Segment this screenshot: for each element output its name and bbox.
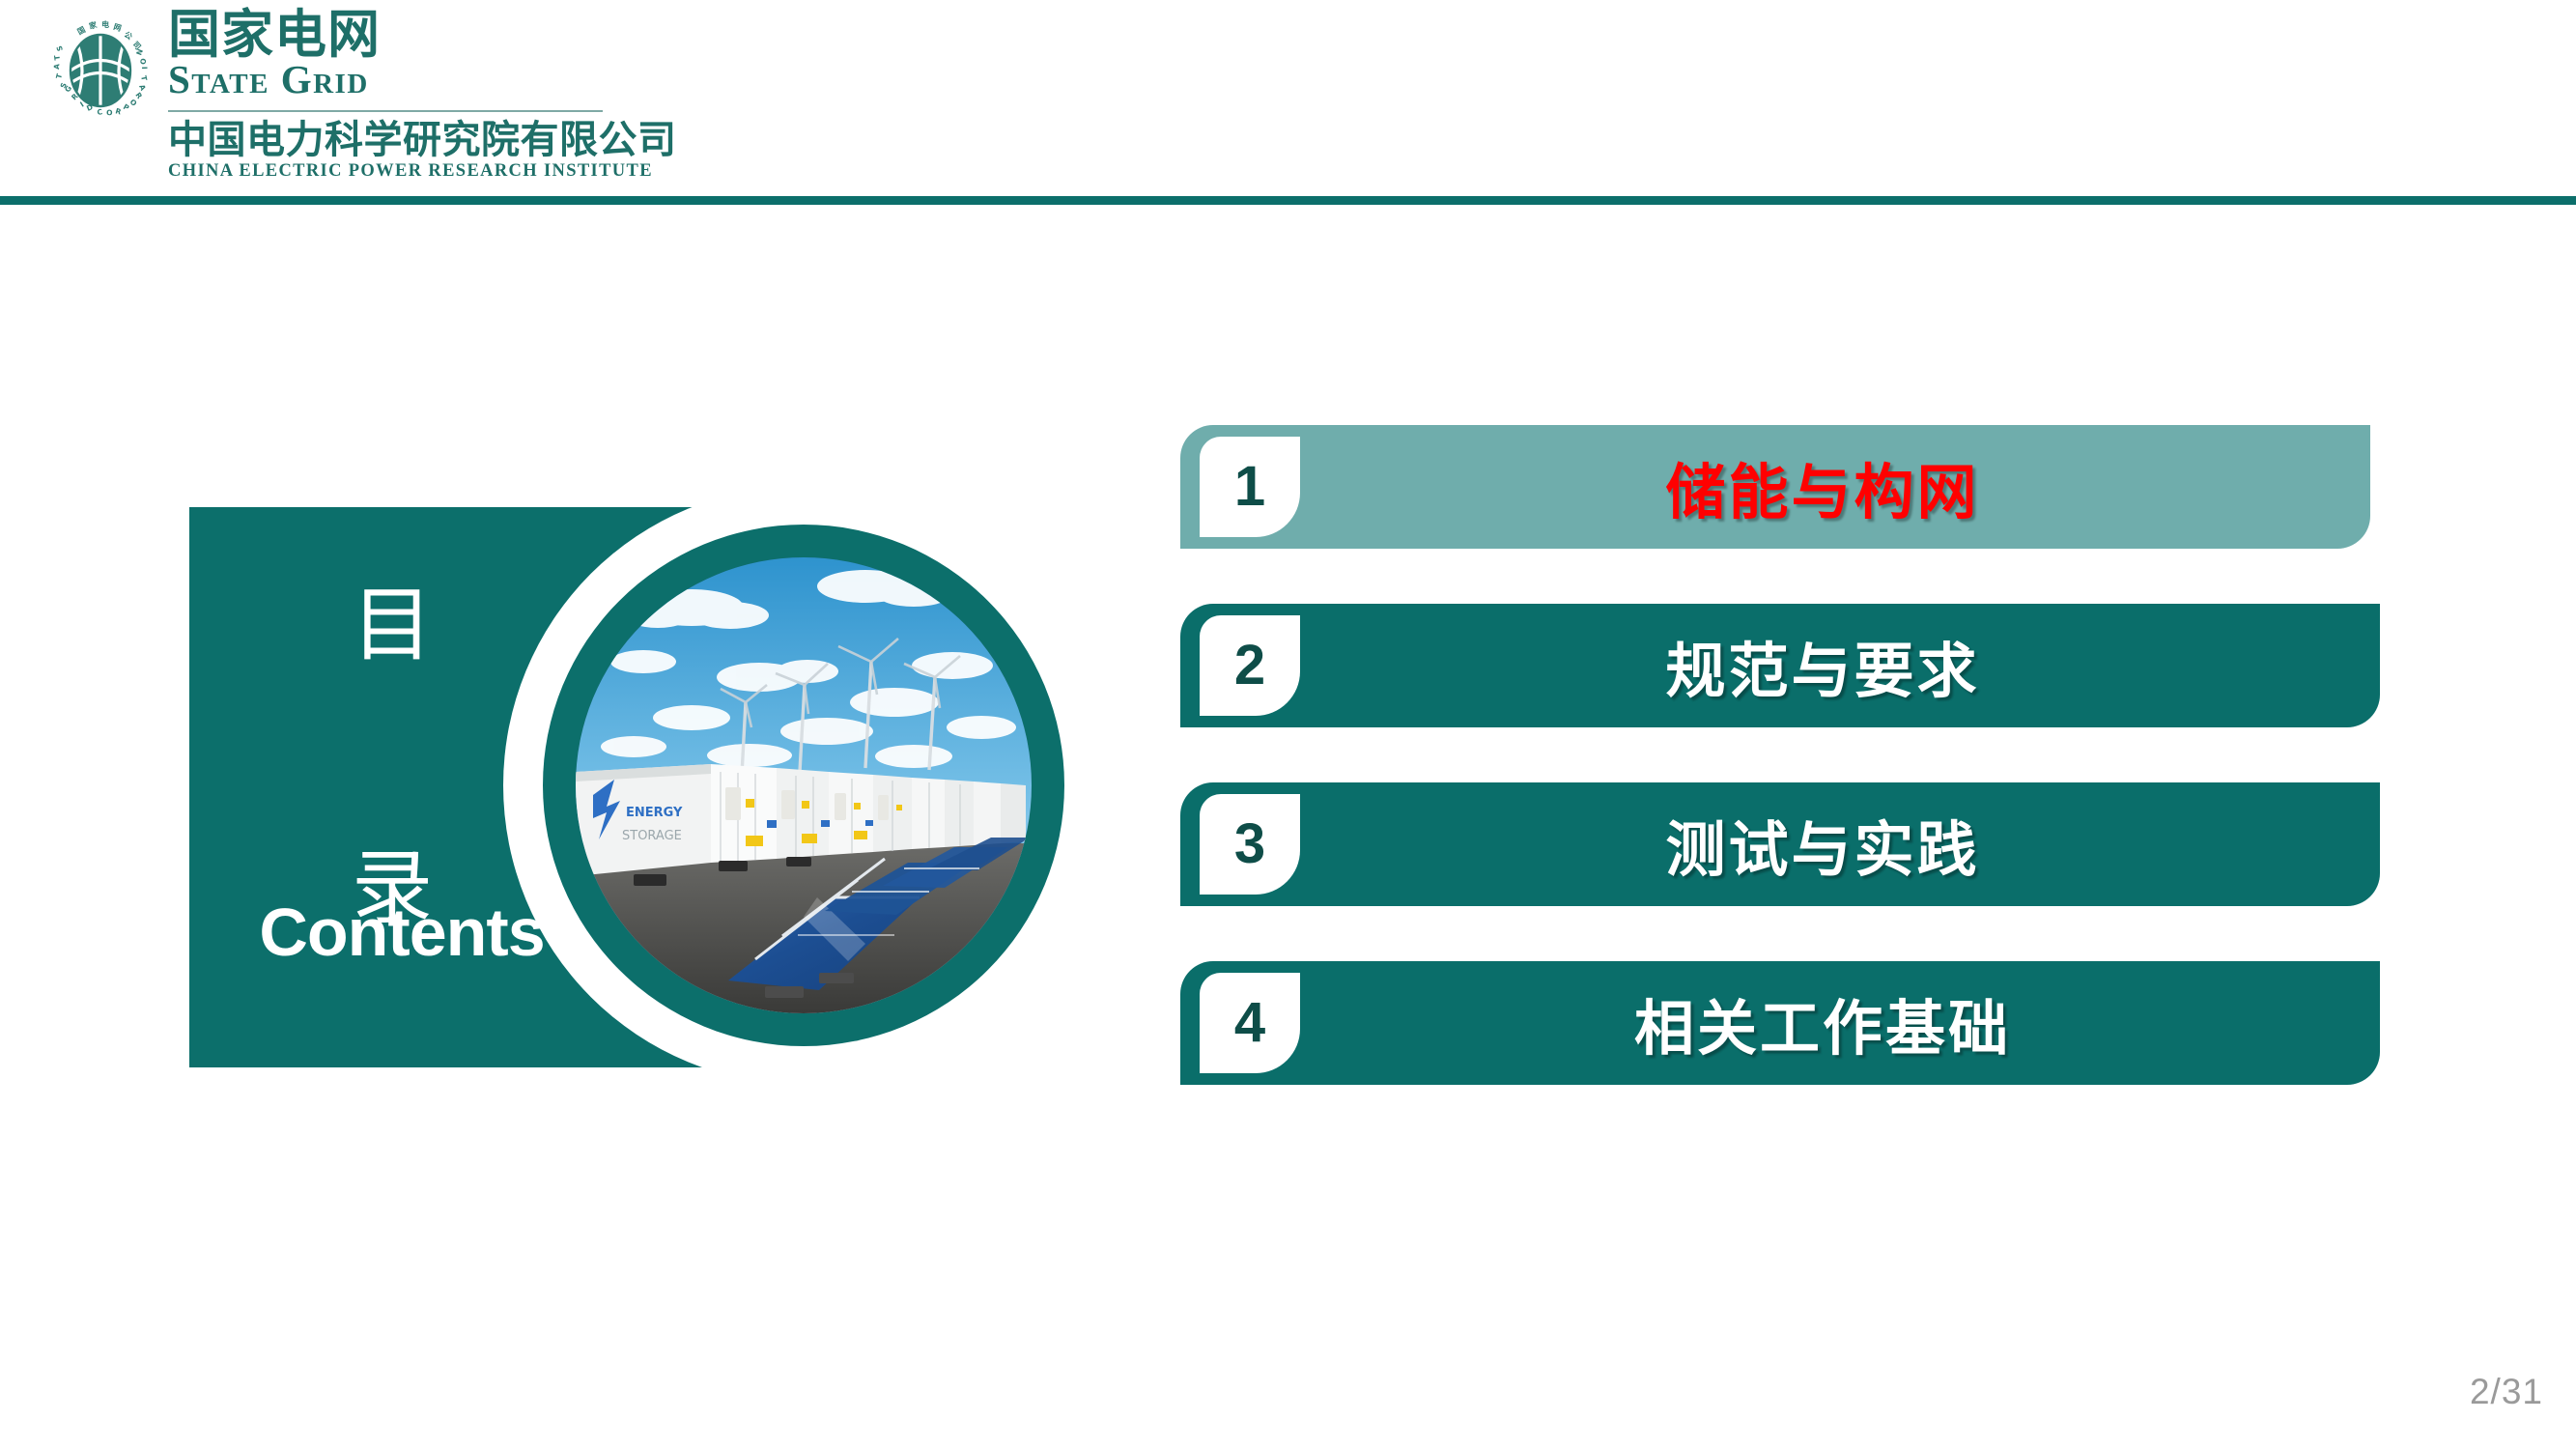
institute-name-en: CHINA ELECTRIC POWER RESEARCH INSTITUTE <box>168 161 677 182</box>
brand-lockup: S T A T S G R I D C O R P O R A T <box>46 8 677 182</box>
agenda-item-2[interactable]: 2 规范与要求 <box>1180 604 2380 727</box>
svg-text:网: 网 <box>112 22 122 33</box>
svg-text:电: 电 <box>101 19 109 29</box>
header-accent-rule <box>0 196 2576 205</box>
slide-header: S T A T S G R I D C O R P O R A T <box>0 0 2576 198</box>
agenda-item-3[interactable]: 3 测试与实践 <box>1180 782 2380 906</box>
svg-text:A: A <box>52 64 61 71</box>
svg-text:T: T <box>54 71 64 79</box>
svg-text:C: C <box>97 107 103 117</box>
agenda-number-1: 1 <box>1234 459 1265 515</box>
agenda-number-2: 2 <box>1234 638 1265 694</box>
page-indicator: 2/31 <box>2470 1372 2543 1412</box>
agenda-number-3: 3 <box>1234 816 1265 872</box>
svg-text:I: I <box>140 67 149 70</box>
svg-text:S: S <box>55 44 65 52</box>
energy-storage-photo: ENERGY STORAGE <box>576 557 1032 1013</box>
agenda-list: 1 储能与构网 2 规范与要求 3 测试与实践 4 相关工作基础 <box>1180 425 2399 1140</box>
svg-text:STORAGE: STORAGE <box>622 829 682 843</box>
contents-label-en: Contents <box>199 894 605 971</box>
agenda-item-4[interactable]: 4 相关工作基础 <box>1180 961 2380 1085</box>
institute-name-cn: 中国电力科学研究院有限公司 <box>168 120 677 160</box>
svg-text:O: O <box>138 58 148 66</box>
state-grid-globe-icon: S T A T S G R I D C O R P O R A T <box>46 17 155 126</box>
agenda-title-2: 规范与要求 <box>1388 604 2257 727</box>
brand-divider <box>168 110 603 112</box>
contents-graphic: ENERGY STORAGE <box>189 507 1059 1067</box>
agenda-number-badge-3: 3 <box>1200 794 1300 895</box>
agenda-number-badge-4: 4 <box>1200 973 1300 1073</box>
agenda-number-badge-1: 1 <box>1200 437 1300 537</box>
agenda-number-4: 4 <box>1234 995 1265 1051</box>
agenda-title-3: 测试与实践 <box>1388 782 2257 906</box>
brand-text-block: 国家电网 State Grid 中国电力科学研究院有限公司 CHINA ELEC… <box>168 8 677 182</box>
brand-name-cn: 国家电网 <box>168 8 677 61</box>
brand-name-en: State Grid <box>168 59 677 100</box>
agenda-title-1: 储能与构网 <box>1388 425 2257 549</box>
svg-text:ENERGY: ENERGY <box>626 806 683 820</box>
agenda-item-1[interactable]: 1 储能与构网 <box>1180 425 2370 549</box>
contents-label-cn-line1: 目 <box>296 584 489 666</box>
agenda-number-badge-2: 2 <box>1200 615 1300 716</box>
svg-text:O: O <box>106 108 113 117</box>
agenda-title-4: 相关工作基础 <box>1388 961 2257 1085</box>
